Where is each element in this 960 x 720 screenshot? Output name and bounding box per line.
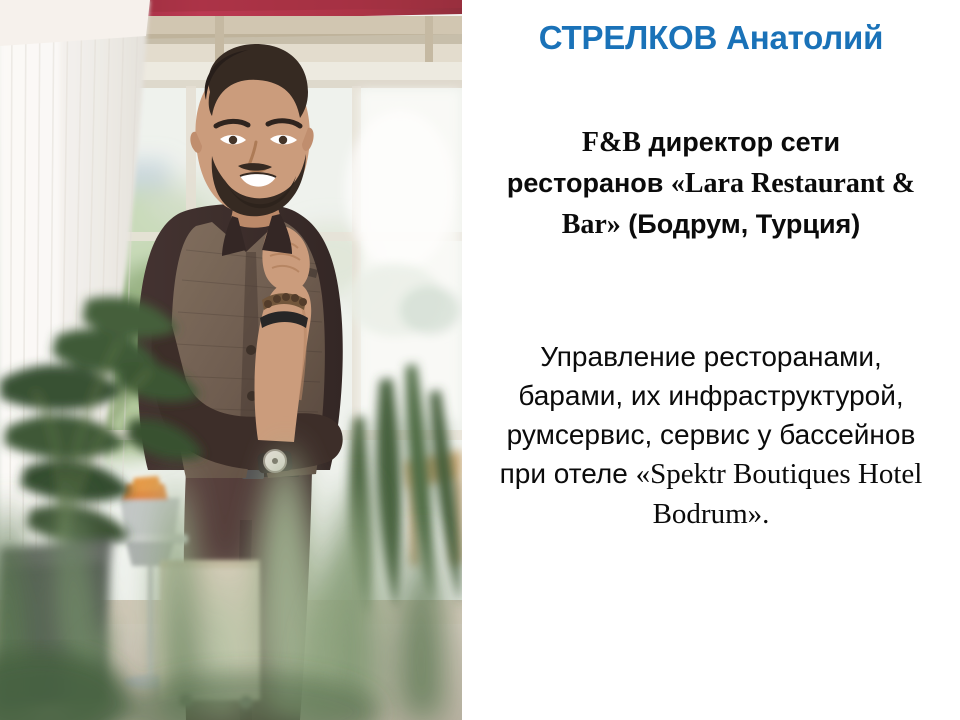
role-line1-brand: F&B bbox=[582, 127, 641, 158]
speaker-description: Управление ресторанами, барами, их инфра… bbox=[468, 337, 954, 534]
description-line-4-text: при отеле bbox=[500, 458, 636, 489]
slide-root: СТРЕЛКОВ Анатолий F&B директор сети рест… bbox=[0, 0, 960, 720]
role-line2-brand: «Lara Restaurant & bbox=[671, 168, 915, 199]
speaker-role: F&B директор сети ресторанов «Lara Resta… bbox=[470, 122, 952, 245]
description-line-3: румсервис, сервис у бассейнов bbox=[507, 419, 916, 450]
photo-illustration bbox=[0, 0, 462, 720]
description-line-2: барами, их инфраструктурой, bbox=[518, 380, 903, 411]
role-line3-location: (Бодрум, Турция) bbox=[621, 209, 861, 239]
speaker-photo bbox=[0, 0, 462, 720]
description-line-1: Управление ресторанами, bbox=[540, 341, 882, 372]
role-line2-text: ресторанов bbox=[507, 168, 671, 198]
page-title: СТРЕЛКОВ Анатолий bbox=[462, 18, 960, 58]
role-line3-brand: Bar» bbox=[562, 209, 621, 240]
description-line-5-brand: Bodrum». bbox=[653, 498, 770, 530]
text-panel: СТРЕЛКОВ Анатолий F&B директор сети рест… bbox=[462, 0, 960, 720]
description-line-4-brand: «Spektr Boutiques Hotel bbox=[636, 458, 923, 490]
role-line1-text: директор сети bbox=[641, 127, 840, 157]
